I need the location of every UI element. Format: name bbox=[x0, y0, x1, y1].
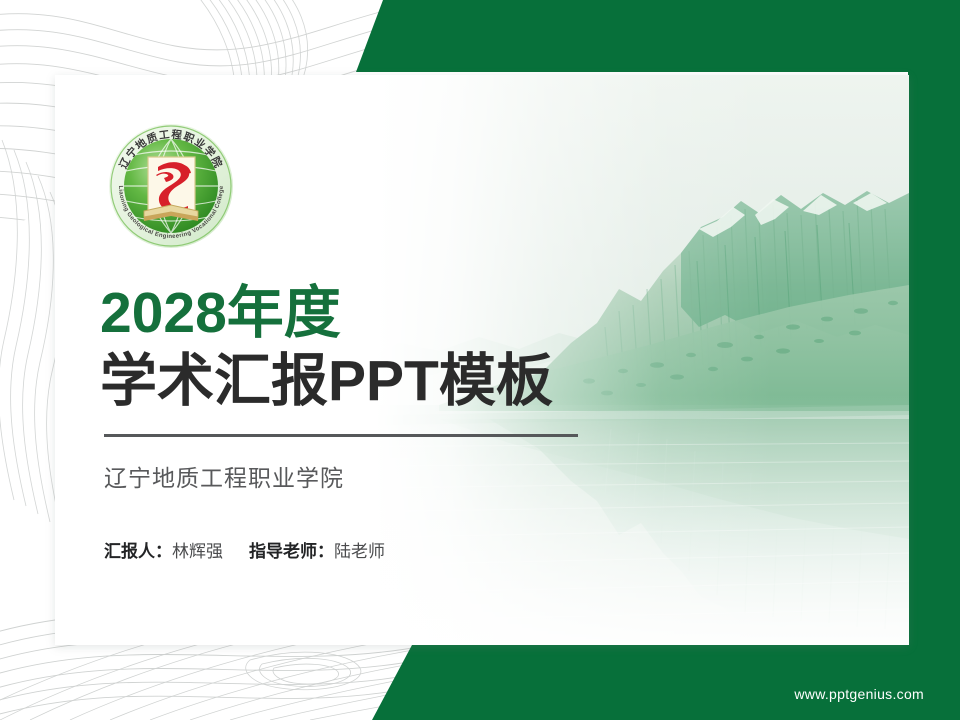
title-divider bbox=[104, 434, 578, 437]
reporter-label: 汇报人： bbox=[104, 542, 172, 561]
slide-content-card: 辽宁地质工程职业学院 Liaoning Geological Engineeri… bbox=[55, 75, 909, 645]
advisor-name: 陆老师 bbox=[334, 542, 385, 561]
institution-subtitle: 辽宁地质工程职业学院 bbox=[104, 459, 578, 493]
reporter-name: 林辉强 bbox=[172, 542, 223, 561]
advisor-label: 指导老师： bbox=[249, 542, 334, 561]
page-title: 学术汇报PPT模板 bbox=[100, 349, 578, 415]
footer-website-url[interactable]: www.pptgenius.com bbox=[794, 686, 924, 702]
presenter-line: 汇报人：林辉强指导老师：陆老师 bbox=[104, 537, 578, 562]
presentation-slide: 辽宁地质工程职业学院 Liaoning Geological Engineeri… bbox=[0, 0, 960, 720]
college-logo: 辽宁地质工程职业学院 Liaoning Geological Engineeri… bbox=[100, 115, 242, 257]
title-text-block: 2028年度 学术汇报PPT模板 辽宁地质工程职业学院 汇报人：林辉强指导老师：… bbox=[100, 283, 578, 562]
title-year: 2028年度 bbox=[100, 283, 578, 345]
